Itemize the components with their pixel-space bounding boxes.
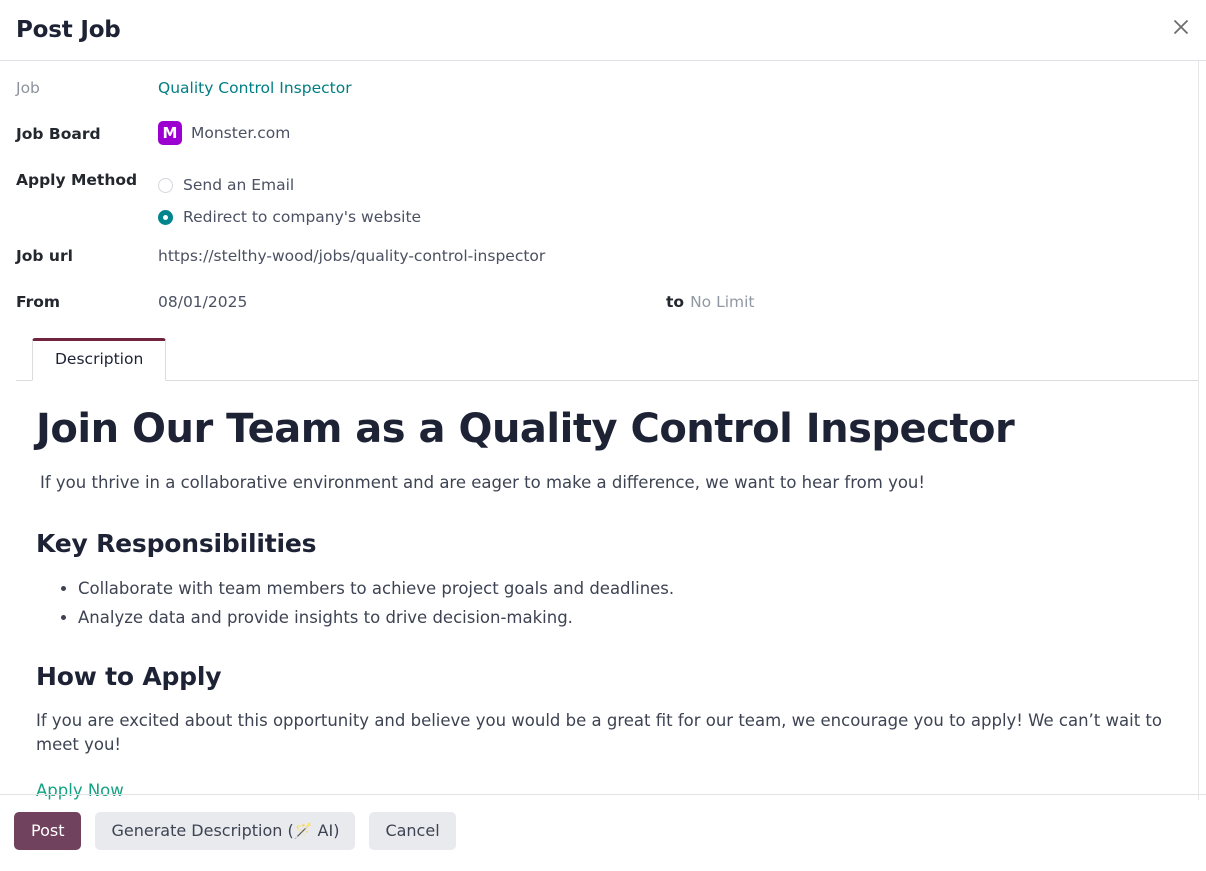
list-item: Analyze data and provide insights to dri… [78, 605, 1162, 631]
job-value-cell: Quality Control Inspector [158, 75, 1182, 99]
radio-icon-unselected[interactable] [158, 178, 173, 193]
field-row-job-board: Job Board M Monster.com [16, 121, 1182, 157]
how-to-apply-heading: How to Apply [36, 662, 1162, 691]
job-board-label: Job Board [16, 121, 158, 145]
field-row-job-url: Job url https://stelthy-wood/jobs/qualit… [16, 243, 1182, 279]
description-heading: Join Our Team as a Quality Control Inspe… [36, 407, 1162, 451]
generate-description-button[interactable]: Generate Description (🪄 AI) [95, 812, 355, 850]
from-label: From [16, 289, 158, 313]
list-item: Collaborate with team members to achieve… [78, 576, 1162, 602]
job-board-name: Monster.com [191, 122, 290, 144]
apply-now-link[interactable]: Apply Now [36, 781, 124, 800]
to-date-wrap: to No Limit [666, 291, 755, 313]
job-board-value-cell: M Monster.com [158, 121, 1182, 145]
modal-header: Post Job [0, 0, 1206, 61]
apply-method-label: Apply Method [16, 167, 158, 191]
footer-divider [0, 794, 1206, 795]
tab-strip: Description [16, 337, 1182, 381]
monster-logo-icon: M [158, 121, 182, 145]
cancel-button[interactable]: Cancel [369, 812, 455, 850]
magic-wand-icon: 🪄 [294, 822, 313, 840]
radio-label-redirect-website: Redirect to company's website [183, 206, 421, 228]
description-intro: If you thrive in a collaborative environ… [40, 471, 1162, 495]
description-content: Join Our Team as a Quality Control Inspe… [16, 381, 1182, 800]
field-row-apply-method: Apply Method Send an Email Redirect to c… [16, 167, 1182, 233]
how-to-apply-text: If you are excited about this opportunit… [36, 709, 1162, 757]
post-button[interactable]: Post [14, 812, 81, 850]
responsibilities-heading: Key Responsibilities [36, 529, 1162, 558]
job-label: Job [16, 75, 158, 99]
modal-body: Job Quality Control Inspector Job Board … [0, 61, 1199, 800]
date-range-value-cell: 08/01/2025 to No Limit [158, 289, 1182, 313]
radio-label-send-email: Send an Email [183, 174, 294, 196]
apply-method-value-cell: Send an Email Redirect to company's webs… [158, 167, 1182, 233]
radio-option-send-email[interactable]: Send an Email [158, 169, 1182, 201]
generate-suffix-label: AI) [312, 821, 339, 840]
responsibilities-list: Collaborate with team members to achieve… [36, 576, 1162, 632]
post-job-modal: Post Job Job Quality Control Inspector J… [0, 0, 1206, 871]
page-title: Post Job [16, 17, 121, 43]
radio-icon-selected[interactable] [158, 210, 173, 225]
radio-option-redirect-website[interactable]: Redirect to company's website [158, 201, 1182, 233]
generate-prefix-label: Generate Description ( [111, 821, 293, 840]
to-date-input[interactable]: No Limit [690, 291, 754, 313]
job-url-value[interactable]: https://stelthy-wood/jobs/quality-contro… [158, 243, 1182, 267]
field-row-date-range: From 08/01/2025 to No Limit [16, 289, 1182, 325]
apply-method-radio-group: Send an Email Redirect to company's webs… [158, 169, 1182, 233]
job-link[interactable]: Quality Control Inspector [158, 79, 352, 97]
modal-footer: Post Generate Description (🪄 AI) Cancel [0, 812, 1206, 850]
field-row-job: Job Quality Control Inspector [16, 75, 1182, 111]
close-icon[interactable] [1162, 8, 1200, 46]
to-label: to [666, 291, 684, 313]
job-url-label: Job url [16, 243, 158, 267]
tab-description[interactable]: Description [32, 338, 166, 381]
from-date-input[interactable]: 08/01/2025 [158, 291, 666, 313]
